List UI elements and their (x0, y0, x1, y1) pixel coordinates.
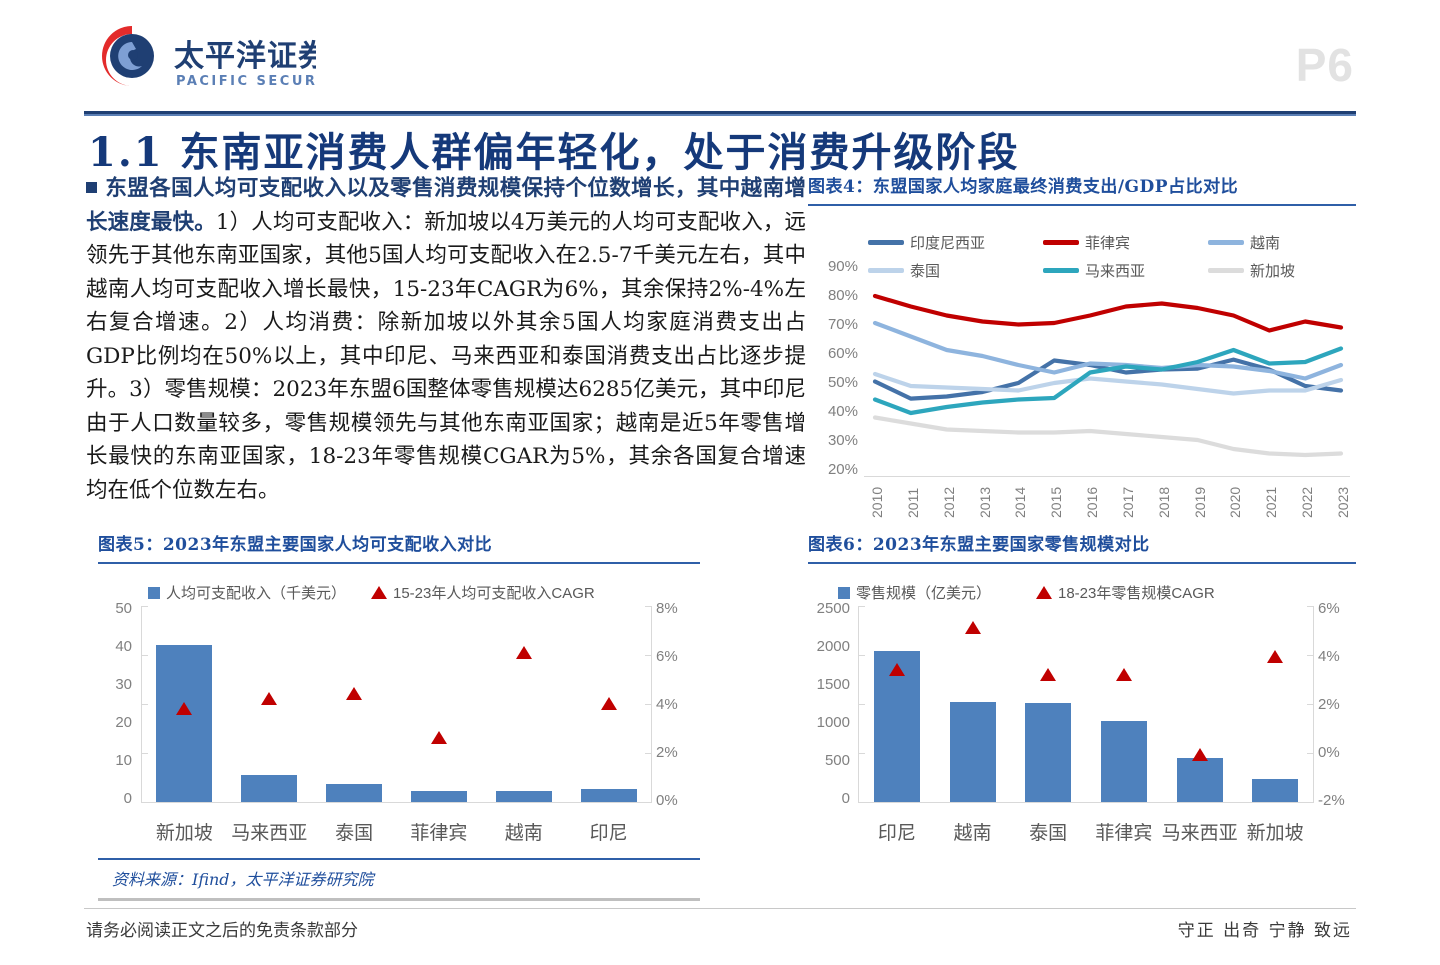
figure-marker-triangle (261, 692, 277, 705)
figure-marker-triangle (1192, 748, 1208, 761)
header-divider (84, 111, 1356, 115)
figure-6-bottom-spine (858, 802, 1314, 803)
axis-tick (1307, 606, 1313, 607)
legend-label: 越南 (1250, 232, 1280, 253)
figure-marker-triangle (176, 702, 192, 715)
figure-5-ytick-4: 10 (98, 752, 132, 769)
figure-6-ytick-3: 1000 (788, 714, 850, 731)
figure-bar (411, 791, 467, 802)
figure-5-ytick-0: 50 (98, 600, 132, 617)
figure-4-xtick-9: 2019 (1192, 487, 1208, 518)
legend-label: 人均可支配收入（千美元） (166, 582, 346, 603)
body-paragraph-block: 东盟各国人均可支配收入以及零售消费规模保持个位数增长，其中越南增长速度最快。1）… (86, 172, 806, 507)
figure-5-ytick-2: 30 (98, 676, 132, 693)
axis-tick (859, 753, 865, 754)
page-number: P6 (1296, 42, 1354, 88)
figure-6-ytick-0: 2500 (788, 600, 850, 617)
axis-tick (645, 753, 651, 754)
figure-6: 图表6：2023年东盟主要国家零售规模对比 零售规模（亿美元） 18-23年零售… (808, 530, 1356, 864)
figure-4: 图表4：东盟国家人均家庭最终消费支出/GDP占比对比 印度尼西亚 菲律宾 越南 … (808, 172, 1356, 546)
legend-line-icon (1208, 240, 1244, 245)
legend-square-icon (838, 587, 850, 599)
axis-tick (859, 655, 865, 656)
figure-marker-triangle (889, 663, 905, 676)
figure-6-body: 零售规模（亿美元） 18-23年零售规模CAGR 2500 2000 1500 … (808, 564, 1356, 864)
legend-line-icon (1043, 240, 1079, 245)
slide-page: 太平洋证券 PACIFIC SECURITIES P6 1.1 东南亚消费人群偏… (0, 0, 1440, 965)
figure-4-xtick-11: 2021 (1263, 487, 1279, 518)
body-paragraph: 东盟各国人均可支配收入以及零售消费规模保持个位数增长，其中越南增长速度最快。1）… (86, 172, 806, 507)
footer-divider (84, 908, 1356, 909)
axis-tick (859, 802, 865, 803)
figure-4-ytick-0: 90% (816, 258, 858, 275)
figure-4-line-5 (875, 418, 1341, 456)
svg-text:太平洋证券: 太平洋证券 (174, 39, 316, 74)
axis-tick (859, 606, 865, 607)
figure-6-ytick-1: 2000 (788, 638, 850, 655)
figure-marker-triangle (1040, 668, 1056, 681)
figure-marker-triangle (346, 687, 362, 700)
figure-marker-triangle (601, 697, 617, 710)
figure-6-ytick-5: 0 (788, 790, 850, 807)
figure-6-legend-marker: 18-23年零售规模CAGR (1036, 582, 1215, 603)
figure-category-label: 新加坡 (142, 818, 227, 845)
figure-4-legend-item-0: 印度尼西亚 (868, 232, 985, 253)
source-divider-top (98, 858, 700, 860)
figure-marker-triangle (1116, 668, 1132, 681)
figure-bar (1177, 758, 1223, 802)
axis-tick (1307, 802, 1313, 803)
figure-5-legend-bar: 人均可支配收入（千美元） (148, 582, 346, 603)
figure-4-axis-line (864, 476, 1350, 477)
figure-5-y2tick-0: 8% (656, 600, 678, 617)
axis-tick (645, 655, 651, 656)
legend-triangle-icon (1036, 586, 1052, 599)
figure-4-ytick-4: 50% (816, 374, 858, 391)
figure-marker-triangle (516, 646, 532, 659)
figure-6-legend-bar: 零售规模（亿美元） (838, 582, 991, 603)
legend-square-icon (148, 587, 160, 599)
footer-disclaimer: 请务必阅读正文之后的免责条款部分 (86, 916, 358, 941)
figure-category-label: 新加坡 (1237, 818, 1313, 845)
figure-4-xtick-3: 2013 (977, 487, 993, 518)
footer-slogan: 守正 出奇 宁静 致远 (1178, 916, 1352, 941)
figure-category-label: 印尼 (859, 818, 935, 845)
figure-4-xtick-13: 2023 (1335, 487, 1351, 518)
figure-4-ytick-1: 80% (816, 287, 858, 304)
figure-5-legend-marker: 15-23年人均可支配收入CAGR (371, 582, 595, 603)
figure-bar (241, 775, 297, 802)
figure-bar (326, 784, 382, 802)
figure-5-right-spine (651, 606, 652, 802)
bullet-square-icon (86, 182, 97, 193)
figure-4-ytick-5: 40% (816, 403, 858, 420)
figure-5-y2tick-2: 4% (656, 696, 678, 713)
figure-4-xtick-5: 2015 (1048, 487, 1064, 518)
axis-tick (1307, 655, 1313, 656)
figure-4-line-1 (875, 296, 1341, 331)
figure-4-title: 图表4：东盟国家人均家庭最终消费支出/GDP占比对比 (808, 172, 1356, 204)
page-title: 1.1 东南亚消费人群偏年轻化，处于消费升级阶段 (88, 120, 1020, 178)
figure-4-legend-item-2: 越南 (1208, 232, 1280, 253)
figure-category-label: 越南 (481, 818, 566, 845)
axis-tick (142, 802, 148, 803)
figure-bar (1101, 721, 1147, 802)
company-logo: 太平洋证券 PACIFIC SECURITIES (86, 22, 316, 94)
figure-4-xtick-7: 2017 (1120, 487, 1136, 518)
axis-tick (645, 704, 651, 705)
figure-4-xtick-12: 2022 (1299, 487, 1315, 518)
source-divider-bottom (98, 898, 700, 901)
figure-4-xtick-10: 2020 (1227, 487, 1243, 518)
figure-4-legend-item-1: 菲律宾 (1043, 232, 1130, 253)
figure-4-xtick-6: 2016 (1084, 487, 1100, 518)
figure-bar (581, 789, 637, 802)
figure-4-xtick-4: 2014 (1012, 487, 1028, 518)
figure-4-xtick-1: 2011 (905, 488, 921, 518)
figure-5-ytick-5: 0 (98, 790, 132, 807)
figure-6-y2tick-3: 0% (1318, 744, 1340, 761)
figure-6-right-spine (1313, 606, 1314, 802)
legend-triangle-icon (371, 586, 387, 599)
figure-marker-triangle (431, 731, 447, 744)
axis-tick (859, 704, 865, 705)
figure-4-ytick-3: 60% (816, 345, 858, 362)
figure-5-y2tick-3: 2% (656, 744, 678, 761)
svg-text:PACIFIC SECURITIES: PACIFIC SECURITIES (176, 74, 316, 89)
figure-category-label: 泰国 (312, 818, 397, 845)
figure-marker-triangle (965, 621, 981, 634)
figure-4-body: 印度尼西亚 菲律宾 越南 泰国 马来西亚 新加坡 (808, 206, 1356, 546)
figure-4-plot (868, 266, 1348, 476)
axis-tick (142, 606, 148, 607)
legend-label: 18-23年零售规模CAGR (1058, 582, 1215, 603)
figure-5: 图表5：2023年东盟主要国家人均可支配收入对比 人均可支配收入（千美元） 15… (98, 530, 700, 864)
figure-category-label: 越南 (935, 818, 1011, 845)
legend-label: 印度尼西亚 (910, 232, 985, 253)
figure-6-ytick-2: 1500 (788, 676, 850, 693)
figure-category-label: 菲律宾 (397, 818, 482, 845)
figure-6-y2tick-1: 4% (1318, 648, 1340, 665)
legend-label: 15-23年人均可支配收入CAGR (393, 582, 595, 603)
figure-4-line-3 (875, 374, 1341, 394)
figure-marker-triangle (1267, 650, 1283, 663)
figure-6-title: 图表6：2023年东盟主要国家零售规模对比 (808, 530, 1356, 562)
figure-6-y2tick-0: 6% (1318, 600, 1340, 617)
figure-5-ytick-1: 40 (98, 638, 132, 655)
figure-bar (156, 645, 212, 802)
figure-category-label: 菲律宾 (1086, 818, 1162, 845)
legend-line-icon (868, 240, 904, 245)
source-note: 资料来源：Ifind，太平洋证券研究院 (112, 866, 374, 890)
legend-label: 菲律宾 (1085, 232, 1130, 253)
figure-4-ytick-6: 30% (816, 432, 858, 449)
figure-bar (1025, 703, 1071, 802)
axis-tick (645, 802, 651, 803)
figure-5-title: 图表5：2023年东盟主要国家人均可支配收入对比 (98, 530, 700, 562)
figure-4-xtick-8: 2018 (1156, 487, 1172, 518)
figure-category-label: 印尼 (566, 818, 651, 845)
legend-label: 零售规模（亿美元） (856, 582, 991, 603)
figure-6-y2tick-2: 2% (1318, 696, 1340, 713)
body-main-text: 1）人均可支配收入：新加坡以4万美元的人均可支配收入，远领先于其他东南亚国家，其… (86, 210, 806, 503)
figure-bar (950, 702, 996, 802)
figure-5-ytick-3: 20 (98, 714, 132, 731)
axis-tick (645, 606, 651, 607)
figure-bar (496, 791, 552, 802)
figure-4-xtick-2: 2012 (941, 487, 957, 518)
figure-5-bottom-spine (141, 802, 652, 803)
axis-tick (142, 753, 148, 754)
figure-category-label: 马来西亚 (1162, 818, 1238, 845)
axis-tick (142, 704, 148, 705)
figure-6-ytick-4: 500 (788, 752, 850, 769)
axis-tick (142, 655, 148, 656)
figure-6-y2tick-4: -2% (1318, 792, 1345, 809)
figure-category-label: 马来西亚 (227, 818, 312, 845)
figure-4-ytick-7: 20% (816, 461, 858, 478)
axis-tick (1307, 704, 1313, 705)
figure-4-ytick-2: 70% (816, 316, 858, 333)
figure-category-label: 泰国 (1010, 818, 1086, 845)
figure-5-y2tick-1: 6% (656, 648, 678, 665)
figure-bar (1252, 779, 1298, 802)
figure-5-body: 人均可支配收入（千美元） 15-23年人均可支配收入CAGR 50 40 30 … (98, 564, 700, 864)
figure-4-xtick-0: 2010 (869, 487, 885, 518)
figure-5-y2tick-4: 0% (656, 792, 678, 809)
axis-tick (1307, 753, 1313, 754)
